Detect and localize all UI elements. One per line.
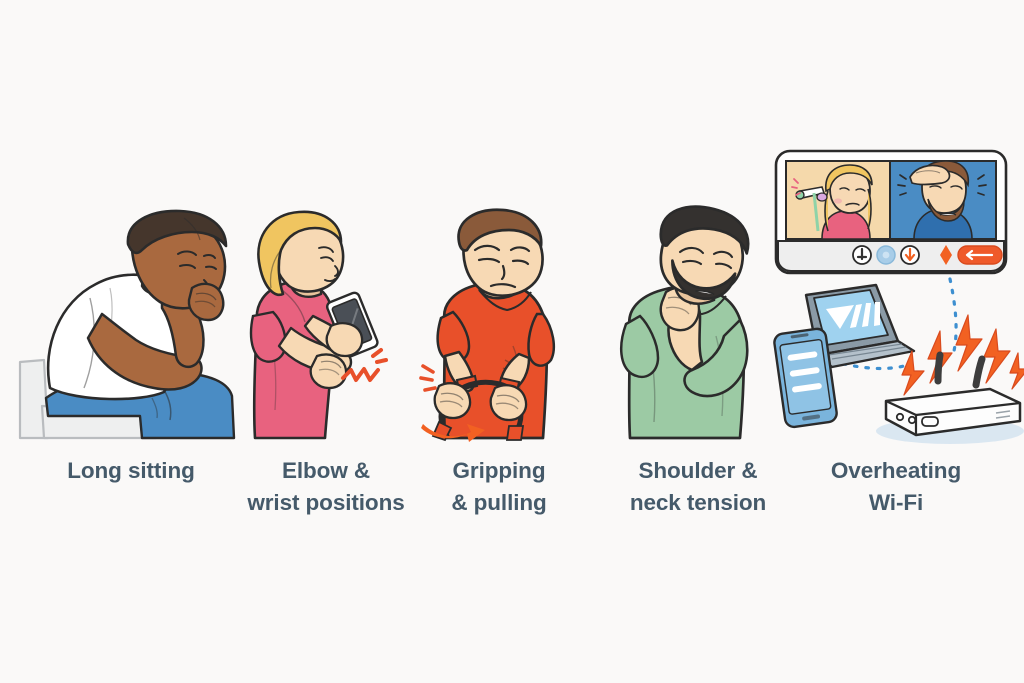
download-button[interactable] — [901, 246, 919, 264]
panel-elbow-wrist[interactable]: Elbow & wrist positions — [239, 0, 413, 683]
pain-indicator — [421, 366, 435, 390]
panel-overheating-wifi[interactable]: Overheating Wi-Fi — [770, 0, 1022, 683]
hand-shape — [189, 284, 223, 320]
head-shape — [459, 210, 543, 296]
panel-row: Long sitting — [0, 0, 1024, 683]
illustration-elbow-wrist — [239, 210, 413, 440]
illustration-long-sitting — [14, 210, 248, 440]
head-shape — [258, 212, 343, 295]
panel-shoulder-neck[interactable]: Shoulder & neck tension — [608, 0, 788, 683]
panel-gripping-pulling[interactable]: Gripping & pulling — [417, 0, 581, 683]
panel-caption-gripping-pulling: Gripping & pulling — [417, 455, 581, 519]
illustration-gripping-pulling — [417, 210, 581, 440]
heat-indicator — [902, 315, 1024, 395]
panel-long-sitting[interactable]: Long sitting — [14, 0, 248, 683]
video-tile-right — [890, 161, 996, 239]
band-handle-right — [507, 426, 523, 440]
video-call-toolbar — [778, 241, 1004, 271]
mic-button[interactable] — [853, 246, 871, 264]
illustration-shoulder-neck — [608, 210, 788, 440]
video-call-window[interactable] — [776, 151, 1006, 273]
illustration-overheating-wifi — [770, 145, 1022, 445]
panel-caption-long-sitting: Long sitting — [14, 455, 248, 487]
panel-caption-shoulder-neck: Shoulder & neck tension — [608, 455, 788, 519]
infographic-canvas: Long sitting — [0, 0, 1024, 683]
router-shape — [876, 355, 1024, 444]
panel-caption-overheating-wifi: Overheating Wi-Fi — [770, 455, 1022, 519]
sleeve-right-shape — [528, 314, 553, 366]
end-call-button[interactable] — [958, 246, 1002, 264]
video-tile-left — [786, 161, 890, 239]
panel-caption-elbow-wrist: Elbow & wrist positions — [239, 455, 413, 519]
